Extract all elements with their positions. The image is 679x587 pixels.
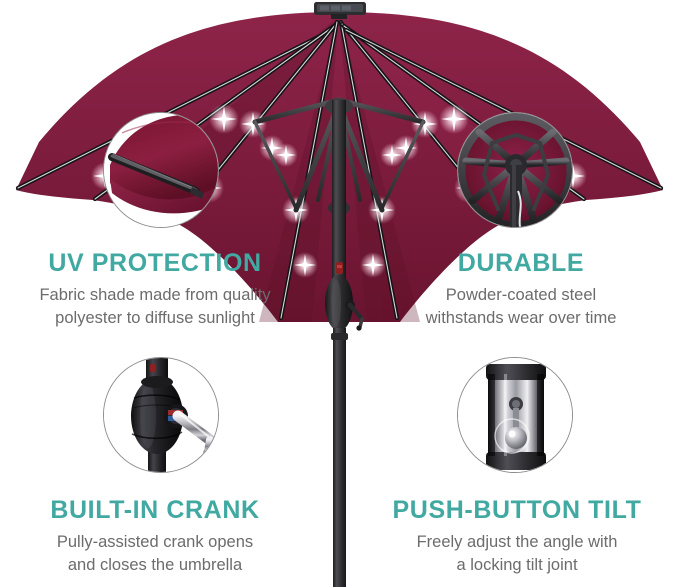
feature-title-push-button-tilt: PUSH-BUTTON TILT (358, 497, 676, 523)
feature-desc-line-1: Fabric shade made from quality (0, 284, 314, 307)
feature-desc-line-1: Pully-assisted crank opens (0, 531, 314, 554)
feature-inset-crank (103, 357, 219, 473)
solar-panel (314, 2, 366, 19)
feature-inset-tilt (457, 357, 573, 473)
feature-inset-durable (457, 112, 573, 228)
feature-desc-line-2: polyester to diffuse sunlight (0, 307, 314, 330)
canopy-support-struts (255, 100, 423, 210)
feature-desc-push-button-tilt: Freely adjust the angle with a locking t… (358, 531, 676, 577)
feature-title-durable: DURABLE (362, 250, 679, 276)
infographic-canvas: UV PROTECTION Fabric shade made from qua… (0, 0, 679, 587)
tilt-button-red (150, 364, 156, 372)
pole-joint-collar (331, 333, 348, 340)
feature-inset-uv-protection (103, 112, 219, 228)
feature-desc-line-2: a locking tilt joint (358, 554, 676, 577)
feature-desc-uv-protection: Fabric shade made from quality polyester… (0, 284, 314, 330)
feature-desc-line-2: and closes the umbrella (0, 554, 314, 577)
canopy-hub (325, 98, 353, 215)
feature-desc-durable: Powder-coated steel withstands wear over… (362, 284, 679, 330)
feature-text-push-button-tilt: PUSH-BUTTON TILT Freely adjust the angle… (358, 497, 676, 577)
feature-title-built-in-crank: BUILT-IN CRANK (0, 497, 314, 523)
feature-text-durable: DURABLE Powder-coated steel withstands w… (362, 250, 679, 330)
feature-desc-line-2: withstands wear over time (362, 307, 679, 330)
pole-lower (333, 328, 346, 587)
crank-housing (325, 275, 362, 331)
feature-desc-line-1: Powder-coated steel (362, 284, 679, 307)
feature-text-uv-protection: UV PROTECTION Fabric shade made from qua… (0, 250, 314, 330)
feature-title-uv-protection: UV PROTECTION (0, 250, 314, 276)
tilt-button (336, 262, 343, 274)
feature-text-built-in-crank: BUILT-IN CRANK Pully-assisted crank open… (0, 497, 314, 577)
feature-desc-built-in-crank: Pully-assisted crank opens and closes th… (0, 531, 314, 577)
pole-upper (332, 100, 346, 282)
tilt-knob (505, 427, 527, 449)
feature-desc-line-1: Freely adjust the angle with (358, 531, 676, 554)
